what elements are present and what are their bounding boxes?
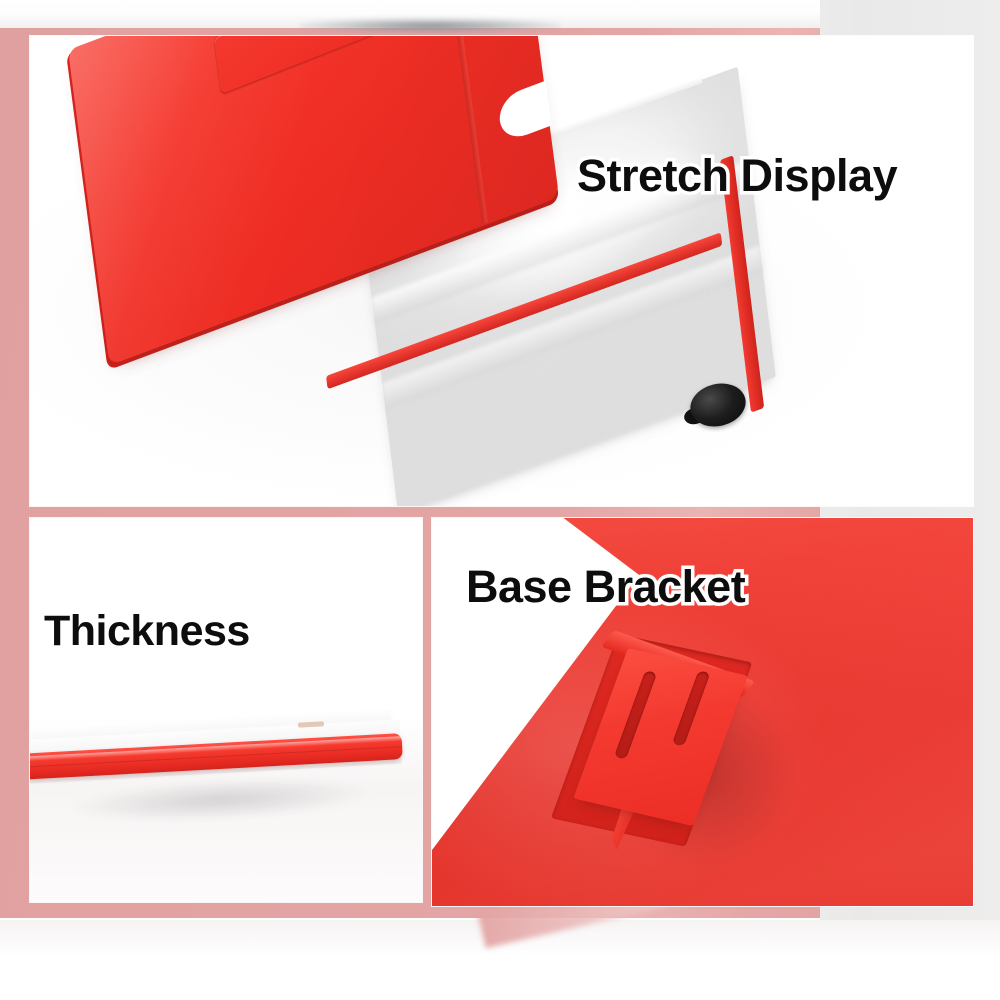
caption-stretch-display: Stretch Display — [577, 150, 897, 202]
stretch-display-panel — [30, 36, 973, 506]
bracket-rib-left — [614, 670, 657, 759]
caption-base-bracket: Base Bracket — [466, 561, 745, 613]
bracket-rib-right — [672, 670, 710, 746]
thickness-panel — [30, 518, 422, 902]
caption-thickness: Thickness — [44, 607, 250, 656]
product-collage: Stretch Display Thickness Base Bracket — [0, 0, 1000, 1000]
background-top-shadow — [300, 18, 560, 34]
